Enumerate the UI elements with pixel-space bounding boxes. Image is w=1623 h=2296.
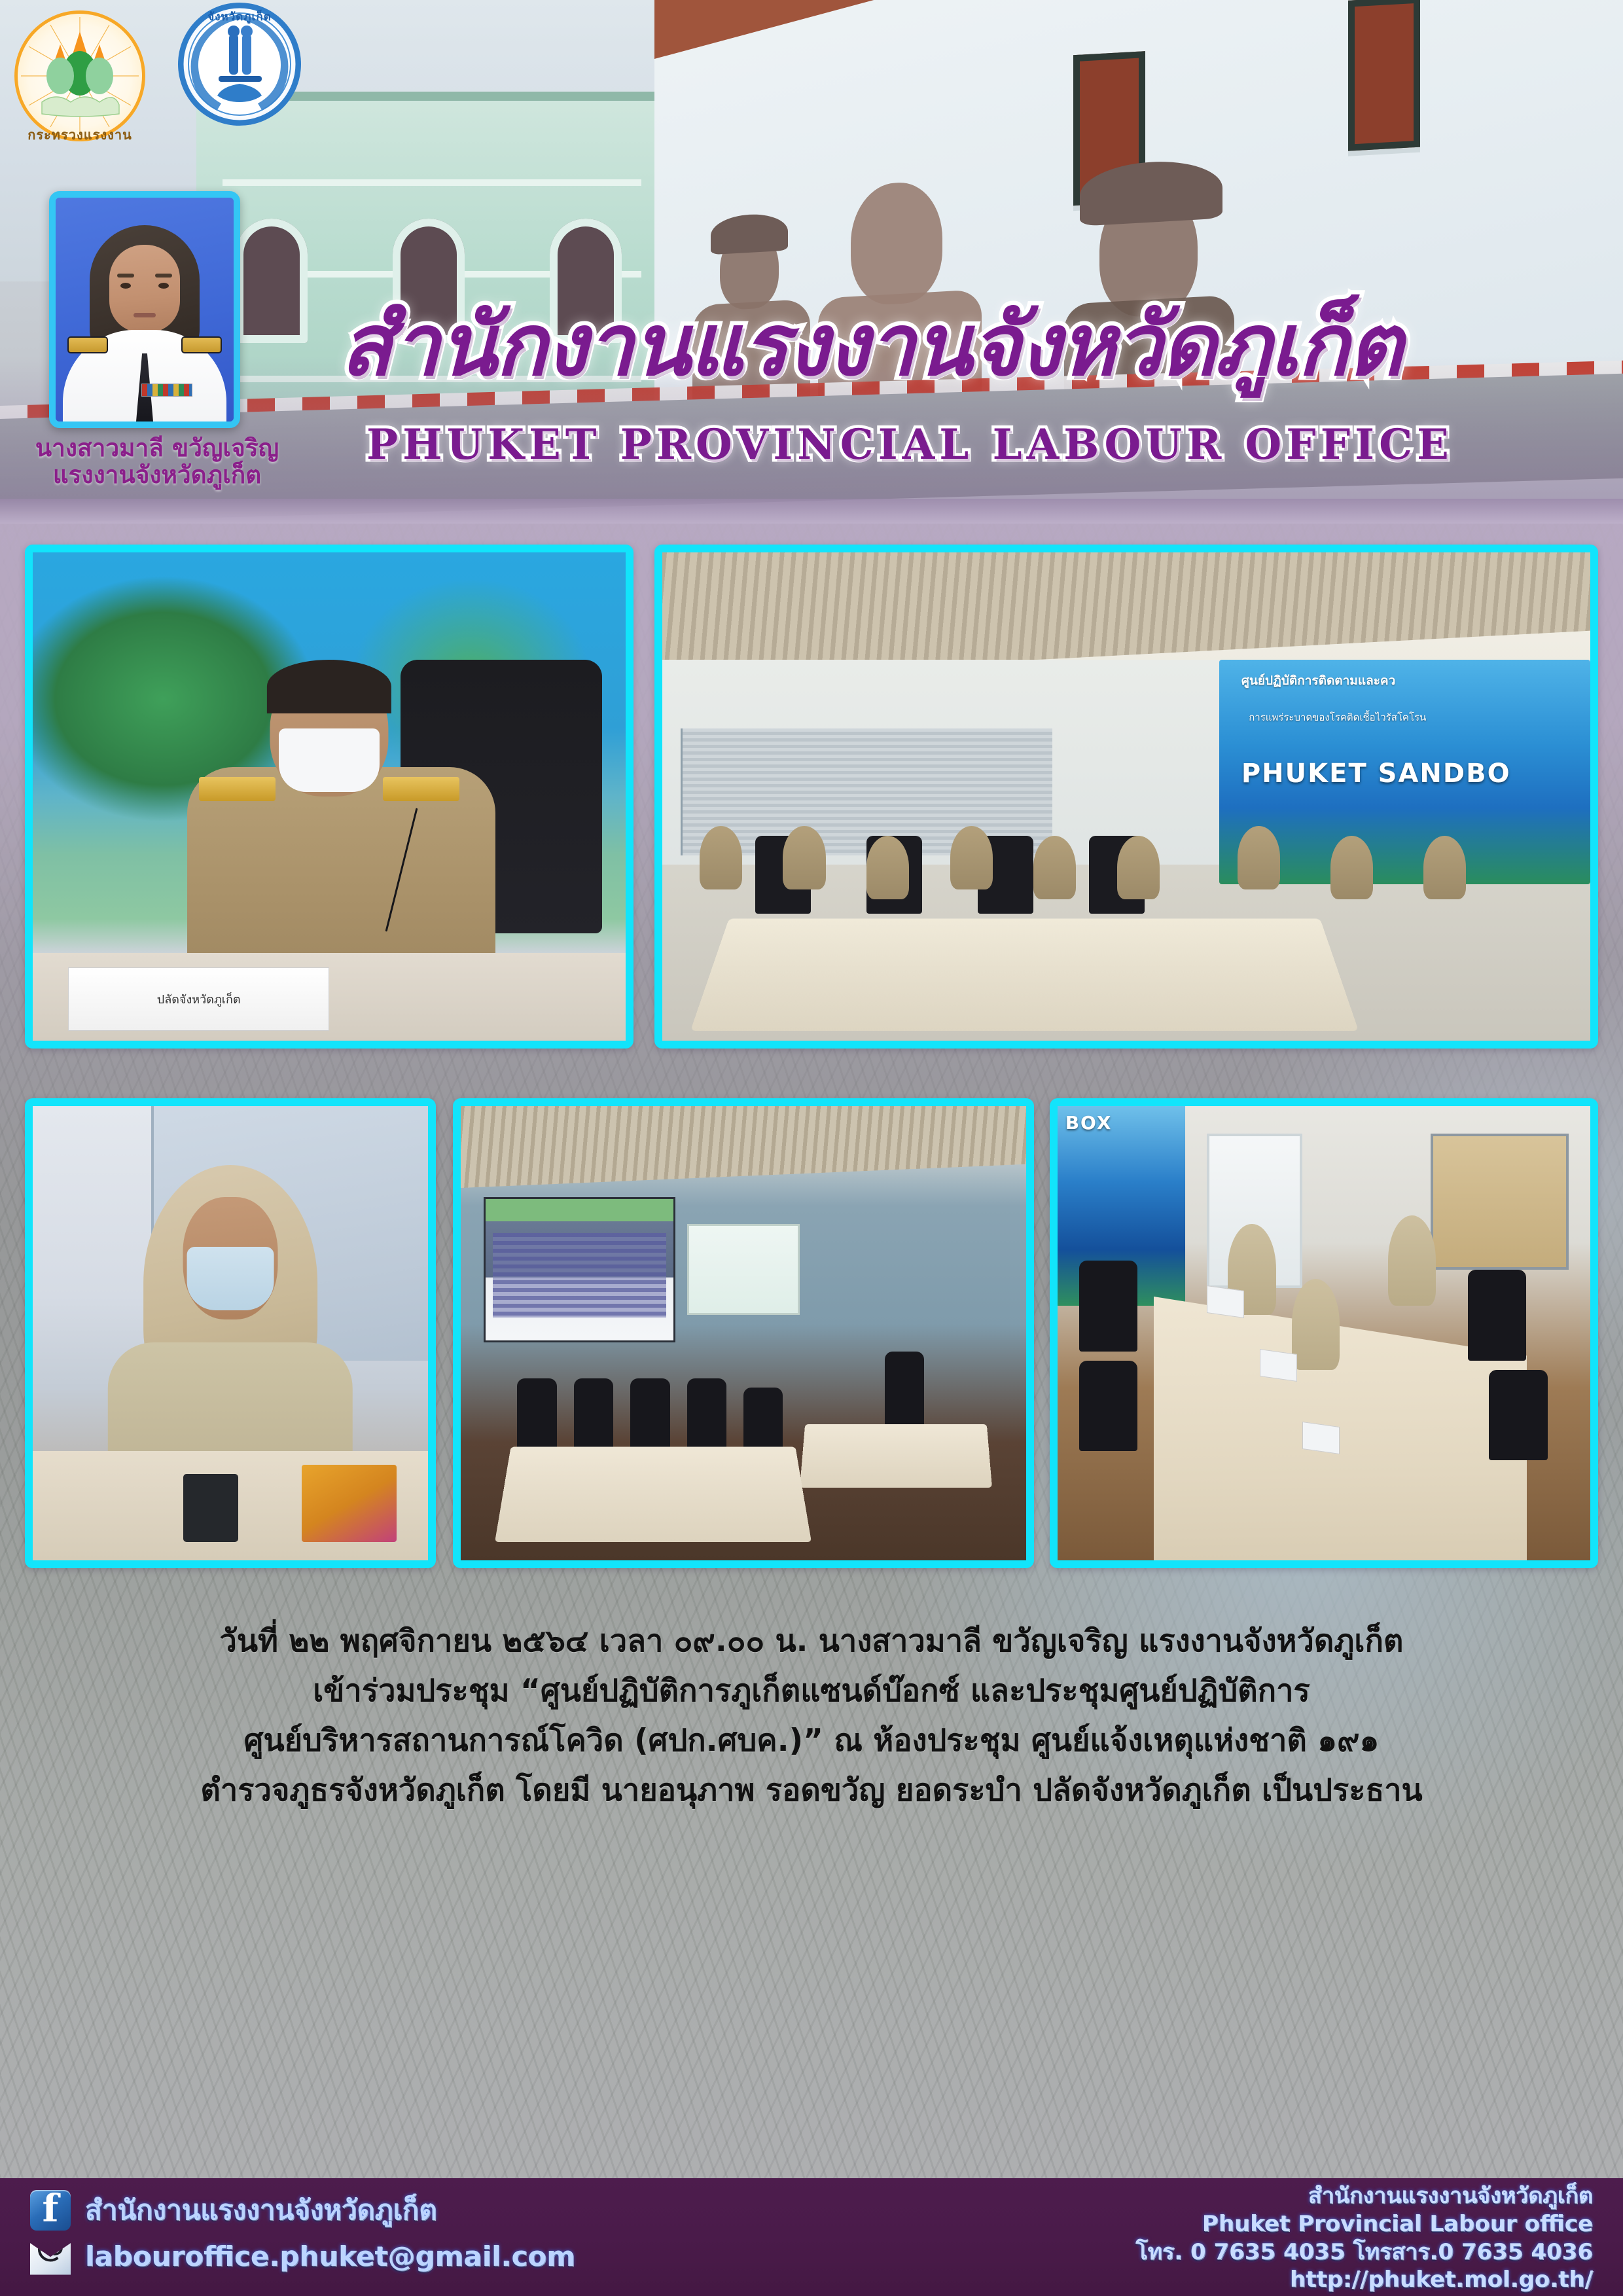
email-icon[interactable] xyxy=(30,2236,71,2276)
footer-contact-bar: สำนักงานแรงงานจังหวัดภูเก็ต labouroffice… xyxy=(0,2178,1623,2296)
photo2-banner-line3: PHUKET SANDBO xyxy=(1241,759,1583,789)
photo-officials-along-table: BOX xyxy=(1050,1098,1598,1568)
labour-officer-portrait xyxy=(49,191,240,428)
facebook-icon[interactable] xyxy=(30,2190,71,2231)
caption-line-4: ตำรวจภูธรจังหวัดภูเก็ต โดยมี นายอนุภาพ ร… xyxy=(0,1766,1623,1816)
footer-office-english: Phuket Provincial Labour office xyxy=(1135,2210,1593,2238)
portrait-name: นางสาวมาลี ขวัญเจริญ xyxy=(0,435,314,461)
photo-labour-officer-at-desk xyxy=(25,1098,436,1568)
page-title-english: PHUKET PROVINCIAL LABOUR OFFICE xyxy=(366,420,1387,469)
footer-email-row[interactable]: labouroffice.phuket@gmail.com xyxy=(30,2233,575,2279)
footer-facebook-name: สำนักงานแรงงานจังหวัดภูเก็ต xyxy=(85,2189,437,2232)
event-caption: วันที่ ๒๒ พฤศจิกายน ๒๕๖๔ เวลา ๐๙.๐๐ น. น… xyxy=(0,1617,1623,1816)
footer-facebook-row[interactable]: สำนักงานแรงงานจังหวัดภูเก็ต xyxy=(30,2187,575,2233)
photo2-banner-line1: ศูนย์ปฏิบัติการติดตามและคว xyxy=(1241,671,1583,691)
photo1-nameplate: ปลัดจังหวัดภูเก็ต xyxy=(68,967,329,1031)
photo2-banner-line2: การแพร่ระบาดของโรคติดเชื้อไวรัสโคโรน xyxy=(1249,709,1582,725)
phuket-province-seal-icon: จังหวัดภูเก็ต xyxy=(178,3,301,126)
caption-line-2: เข้าร่วมประชุม “ศูนย์ปฏิบัติการภูเก็ตแซน… xyxy=(0,1666,1623,1716)
footer-office-thai: สำนักงานแรงงานจังหวัดภูเก็ต xyxy=(1135,2182,1593,2210)
footer-website[interactable]: http://phuket.mol.go.th/ xyxy=(1135,2266,1593,2294)
photo-governor-at-table: ปลัดจังหวัดภูเก็ต xyxy=(25,545,633,1049)
header-bottom-bar xyxy=(0,499,1623,524)
footer-phone-fax: โทร. 0 7635 4035 โทรสาร.0 7635 4036 xyxy=(1135,2238,1593,2267)
poster-root: กระทรวงแรงงาน จังหวัดภูเก็ต xyxy=(0,0,1623,2296)
phuket-seal-caption: จังหวัดภูเก็ต xyxy=(178,8,301,26)
footer-email-address: labouroffice.phuket@gmail.com xyxy=(85,2240,575,2272)
footer-right-contacts: สำนักงานแรงงานจังหวัดภูเก็ต Phuket Provi… xyxy=(1135,2182,1593,2294)
photo-meeting-room-projector xyxy=(453,1098,1034,1568)
portrait-role: แรงงานจังหวัดภูเก็ต xyxy=(0,461,314,488)
caption-line-1: วันที่ ๒๒ พฤศจิกายน ๒๕๖๔ เวลา ๐๙.๐๐ น. น… xyxy=(0,1617,1623,1666)
footer-left-contacts: สำนักงานแรงงานจังหวัดภูเก็ต labouroffice… xyxy=(30,2187,575,2279)
ministry-logo-caption: กระทรวงแรงงาน xyxy=(14,124,145,145)
photo-wide-meeting-room: ศูนย์ปฏิบัติการติดตามและคว การแพร่ระบาดข… xyxy=(654,545,1598,1049)
page-title-thai: สำนักงานแรงงานจังหวัดภูเก็ต xyxy=(340,302,1387,387)
caption-line-3: ศูนย์บริหารสถานการณ์โควิด (ศปก.ศบค.)” ณ … xyxy=(0,1716,1623,1766)
portrait-caption: นางสาวมาลี ขวัญเจริญ แรงงานจังหวัดภูเก็ต xyxy=(0,435,314,489)
photo5-banner-text: BOX xyxy=(1065,1112,1113,1134)
ministry-of-labour-emblem-icon: กระทรวงแรงงาน xyxy=(14,10,145,141)
